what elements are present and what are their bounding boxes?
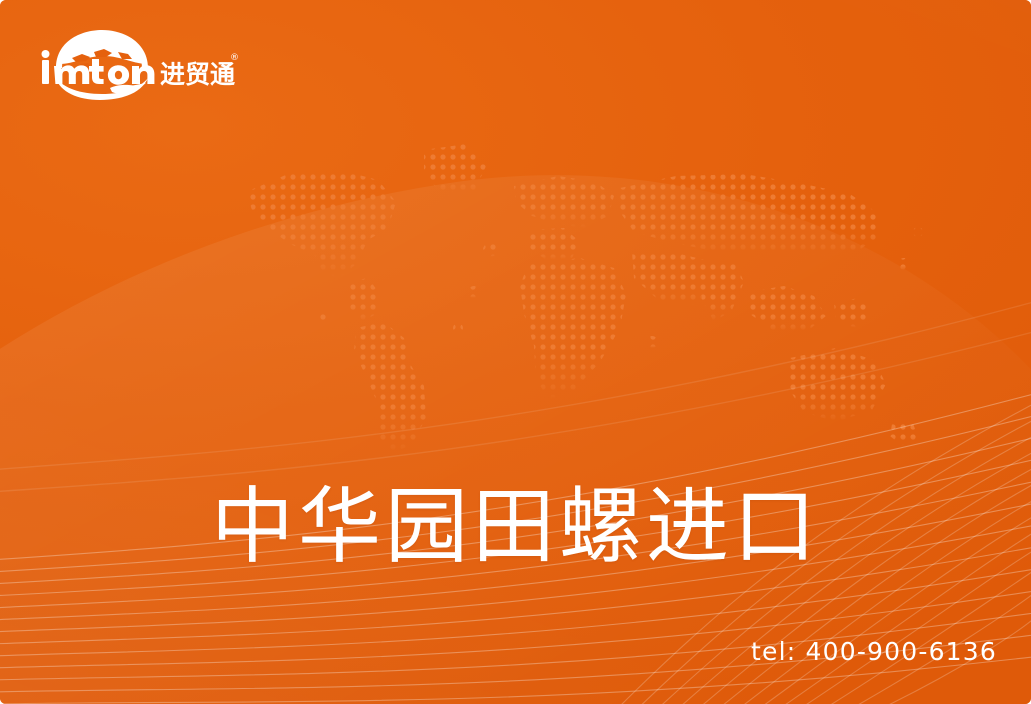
title-line-1: 中华园田螺进口: [0, 468, 1031, 586]
globe-arc-icon: [56, 30, 148, 68]
promo-banner: 进贸通 ® 中华园田螺进口 清关代理公司 tel: 400-900-6136: [0, 0, 1031, 704]
logo-chinese-name: 进贸通: [160, 60, 235, 89]
contact-phone[interactable]: tel: 400-900-6136: [751, 637, 997, 666]
page-title: 中华园田螺进口 清关代理公司: [0, 232, 1031, 704]
logo-trademark-symbol: ®: [230, 53, 239, 63]
imton-logo[interactable]: 进贸通 ®: [34, 26, 240, 102]
